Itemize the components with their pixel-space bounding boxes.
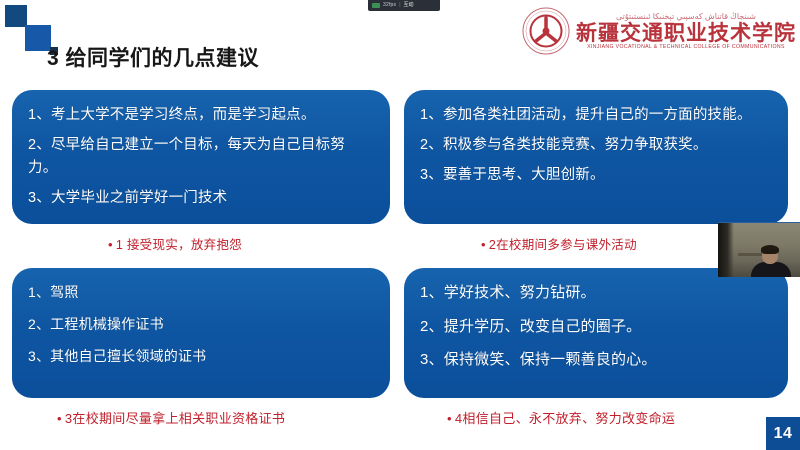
list-item: 1、学好技术、努力钻研。 [420, 282, 772, 305]
list-item: 3、保持微笑、保持一颗善良的心。 [420, 349, 772, 372]
logo-english-name: XINJIANG VOCATIONAL & TECHNICAL COLLEGE … [576, 44, 796, 50]
list-item: 1、考上大学不是学习终点，而是学习起点。 [28, 104, 374, 127]
list-item: 2、工程机械操作证书 [28, 314, 374, 335]
school-logo: شىنجاڭ قاتناش كەسپىي تېخنىكا ئىنستىتۇتى … [521, 2, 796, 60]
broadcast-icon [372, 3, 380, 8]
bullet-icon: • [57, 411, 62, 426]
bullet-icon: • [447, 411, 452, 426]
list-item: 3、大学毕业之前学好一门技术 [28, 187, 374, 210]
caption-four-text: 4相信自己、永不放弃、努力改变命运 [455, 411, 675, 426]
caption-one-text: 1 接受现实，放弃抱怨 [116, 238, 242, 252]
advice-panel-bottom-right: 1、学好技术、努力钻研。 2、提升学历、改变自己的圈子。 3、保持微笑、保持一颗… [404, 268, 788, 398]
bullet-icon: • [481, 237, 486, 252]
caption-three-text: 3在校期间尽量拿上相关职业资格证书 [65, 411, 285, 426]
presenter-body [751, 262, 791, 277]
bullet-icon: • [108, 237, 113, 252]
list-item: 3、要善于思考、大胆创新。 [420, 164, 772, 187]
list-item: 2、积极参与各类技能竞赛、努力争取获奖。 [420, 134, 772, 157]
toolbar-separator: | [399, 3, 400, 8]
decorative-square-upper [5, 5, 27, 27]
advice-panel-top-right: 1、参加各类社团活动，提升自己的一方面的技能。 2、积极参与各类技能竞赛、努力争… [404, 90, 788, 224]
caption-one: •1 接受现实，放弃抱怨 [108, 234, 242, 253]
caption-four: •4相信自己、永不放弃、努力改变命运 [447, 408, 675, 427]
presentation-slide: 3 给同学们的几点建议 32fps | 互动 شىنجاڭ قاتناش كەس… [0, 0, 800, 450]
bottom-fade-overlay [0, 434, 800, 450]
webcam-shadow [718, 223, 734, 277]
caption-two-text: 2在校期间多参与课外活动 [489, 238, 637, 252]
toolbar-status-text: 32fps [383, 3, 396, 8]
advice-panel-top-left: 1、考上大学不是学习终点，而是学习起点。 2、尽早给自己建立一个目标，每天为自己… [12, 90, 390, 224]
caption-two: •2在校期间多参与课外活动 [481, 234, 637, 253]
logo-chinese-name: 新疆交通职业技术学院 [576, 22, 796, 43]
toolbar-action-label[interactable]: 互动 [404, 3, 414, 8]
list-item: 3、其他自己擅长领域的证书 [28, 346, 374, 367]
screenshare-toolbar[interactable]: 32fps | 互动 [368, 0, 440, 11]
list-item: 2、提升学历、改变自己的圈子。 [420, 316, 772, 339]
list-item: 1、参加各类社团活动，提升自己的一方面的技能。 [420, 104, 772, 127]
advice-panel-bottom-left: 1、驾照 2、工程机械操作证书 3、其他自己擅长领域的证书 [12, 268, 390, 398]
caption-three: •3在校期间尽量拿上相关职业资格证书 [57, 408, 285, 427]
page-title: 3 给同学们的几点建议 [47, 42, 259, 72]
logo-uyghur-name: شىنجاڭ قاتناش كەسپىي تېخنىكا ئىنستىتۇتى [576, 12, 796, 21]
presenter-video-overlay[interactable] [718, 222, 800, 277]
xinjiang-college-emblem-icon [521, 6, 571, 56]
page-number-badge: 14 [766, 417, 800, 450]
presenter-hair [761, 245, 779, 254]
list-item: 2、尽早给自己建立一个目标，每天为自己目标努力。 [28, 134, 374, 180]
list-item: 1、驾照 [28, 282, 374, 303]
